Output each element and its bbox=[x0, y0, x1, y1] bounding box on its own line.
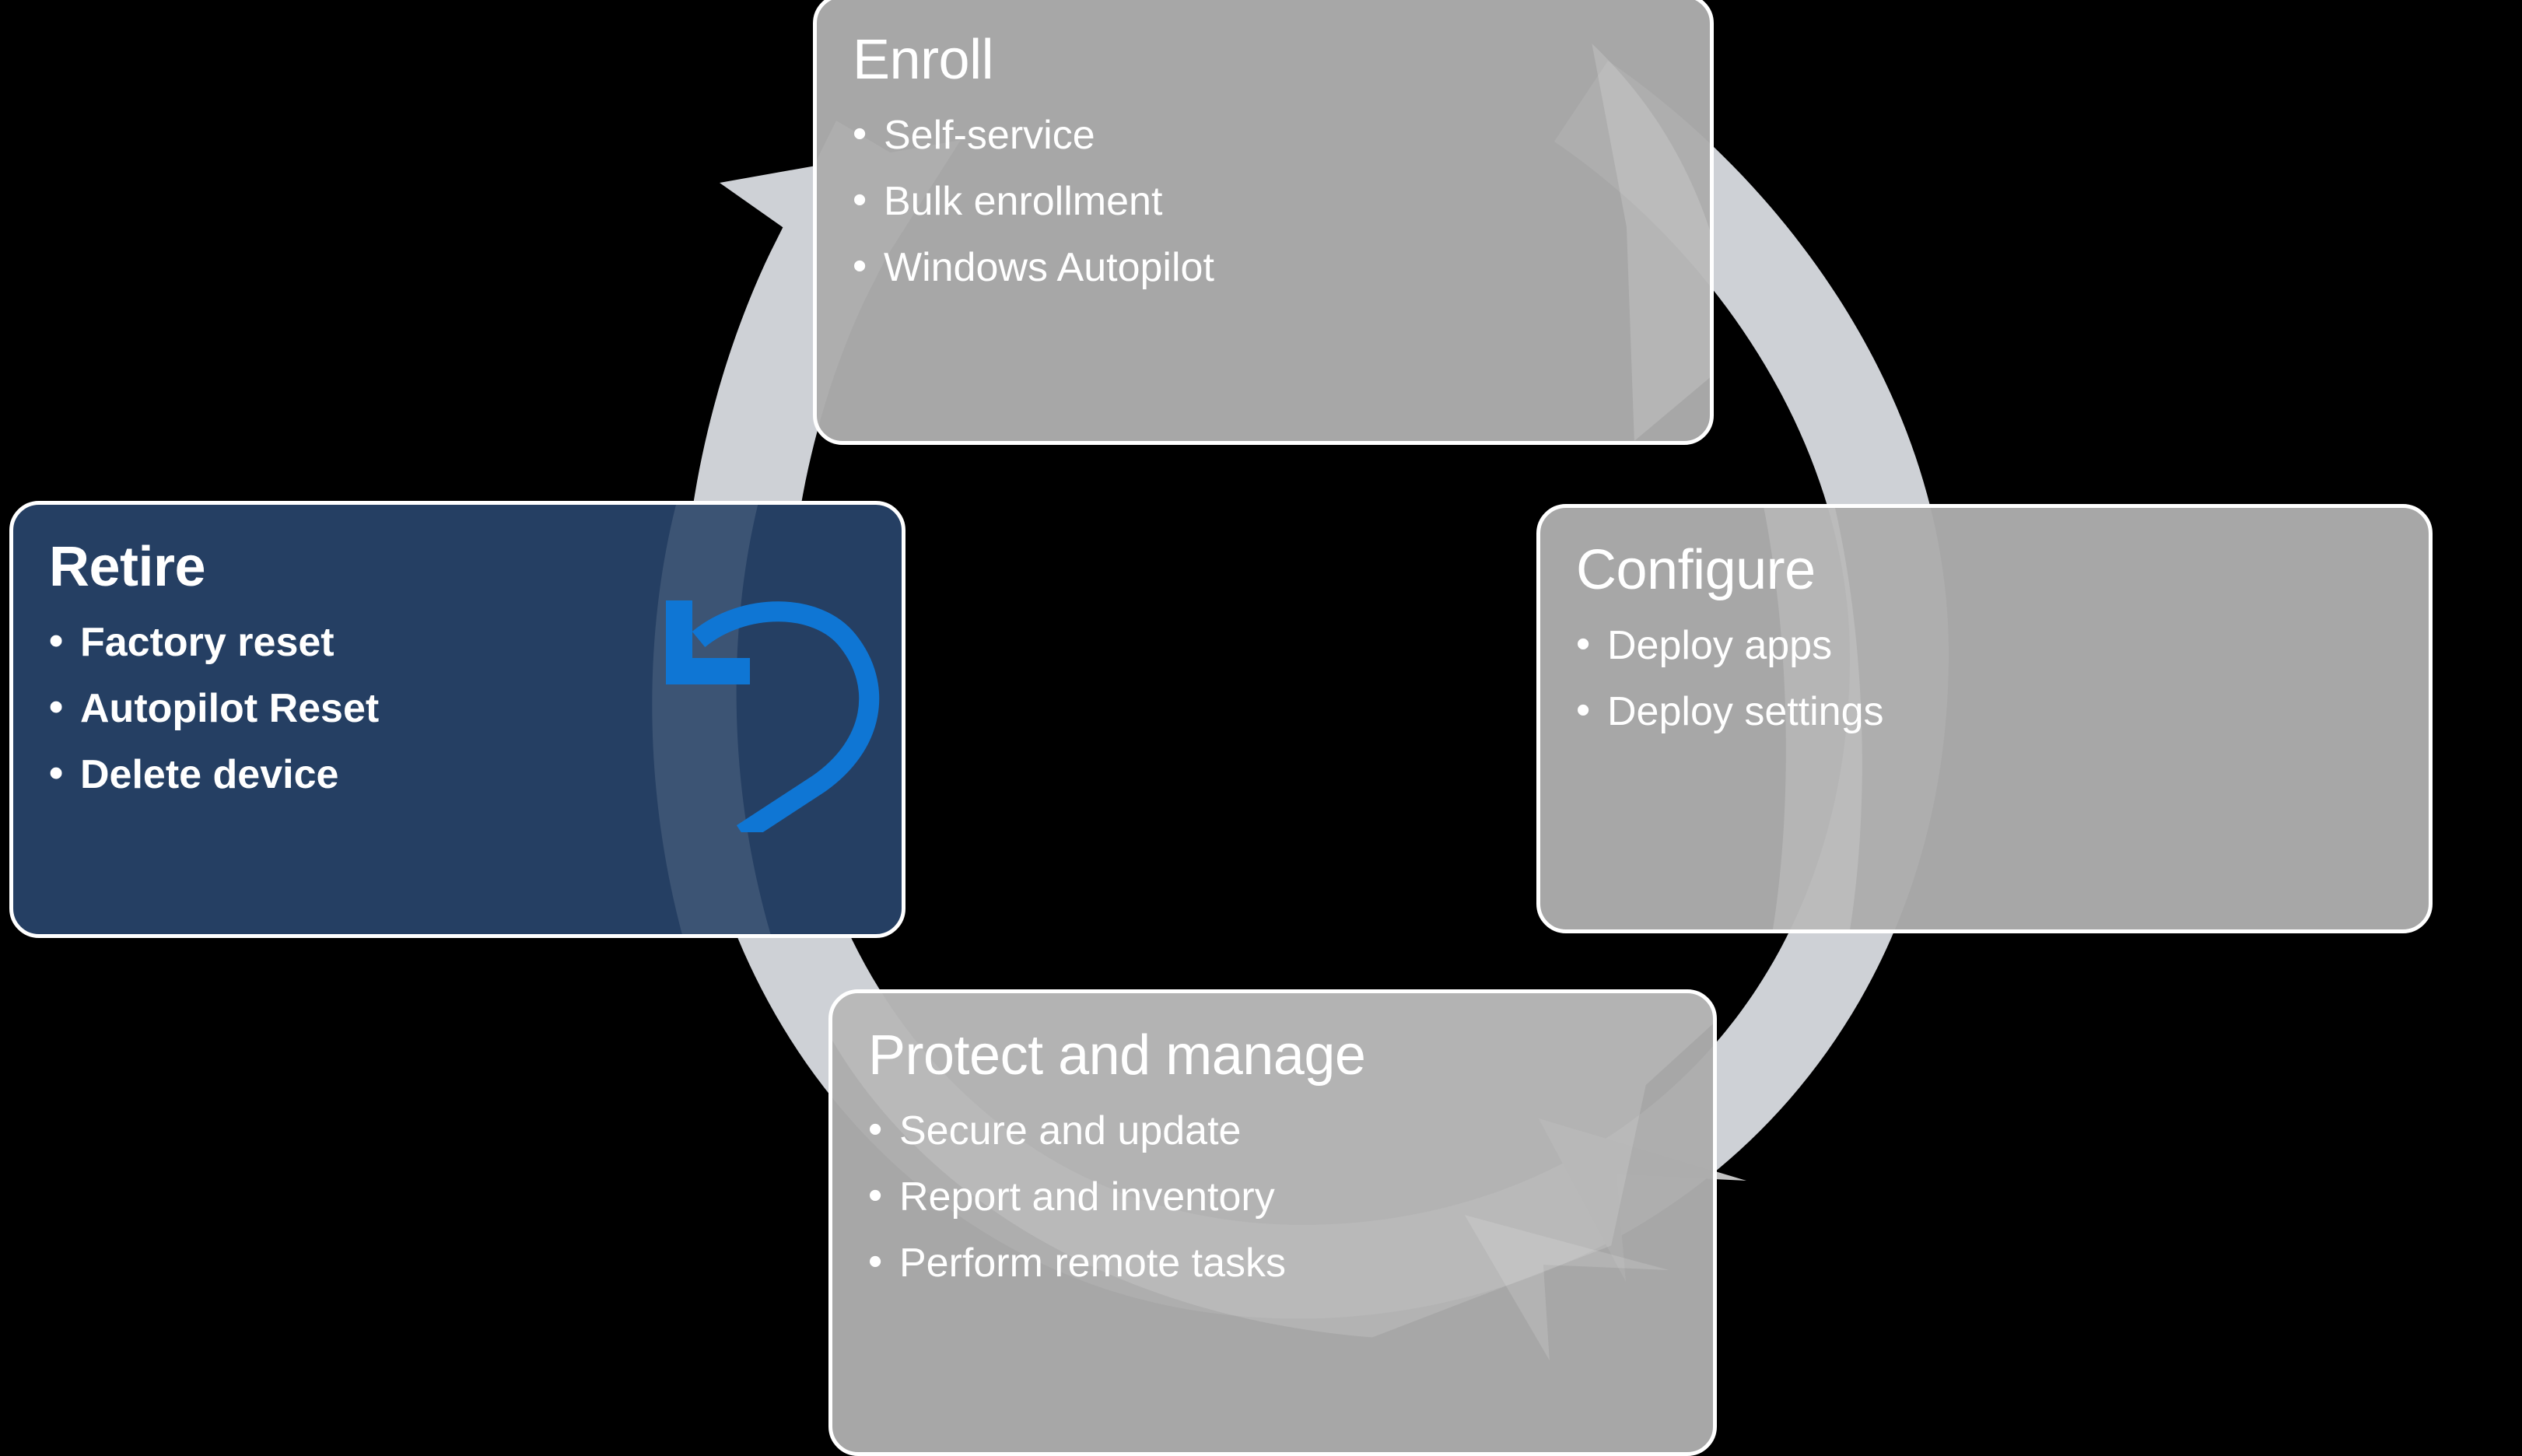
list-item: Windows Autopilot bbox=[853, 247, 1674, 288]
node-protect-list: Secure and update Report and inventory P… bbox=[868, 1111, 1677, 1283]
node-enroll[interactable]: Enroll Self-service Bulk enrollment Wind… bbox=[813, 0, 1714, 445]
list-item: Autopilot Reset bbox=[49, 688, 866, 729]
list-item: Factory reset bbox=[49, 622, 866, 663]
node-retire-list: Factory reset Autopilot Reset Delete dev… bbox=[49, 622, 866, 795]
node-protect[interactable]: Protect and manage Secure and update Rep… bbox=[828, 989, 1717, 1456]
list-item: Deploy settings bbox=[1576, 691, 2393, 732]
node-configure[interactable]: Configure Deploy apps Deploy settings bbox=[1536, 504, 2433, 933]
list-item: Bulk enrollment bbox=[853, 181, 1674, 222]
node-retire-title: Retire bbox=[49, 539, 866, 596]
list-item: Self-service bbox=[853, 115, 1674, 156]
node-enroll-list: Self-service Bulk enrollment Windows Aut… bbox=[853, 115, 1674, 288]
node-configure-list: Deploy apps Deploy settings bbox=[1576, 625, 2393, 732]
node-enroll-title: Enroll bbox=[853, 32, 1674, 89]
list-item: Secure and update bbox=[868, 1111, 1677, 1151]
node-configure-title: Configure bbox=[1576, 542, 2393, 599]
node-retire[interactable]: Retire Factory reset Autopilot Reset Del… bbox=[9, 501, 905, 938]
list-item: Delete device bbox=[49, 754, 866, 795]
diagram-canvas: Enroll Self-service Bulk enrollment Wind… bbox=[0, 0, 2522, 1433]
node-protect-title: Protect and manage bbox=[868, 1027, 1677, 1084]
list-item: Perform remote tasks bbox=[868, 1243, 1677, 1283]
list-item: Report and inventory bbox=[868, 1177, 1677, 1217]
list-item: Deploy apps bbox=[1576, 625, 2393, 666]
